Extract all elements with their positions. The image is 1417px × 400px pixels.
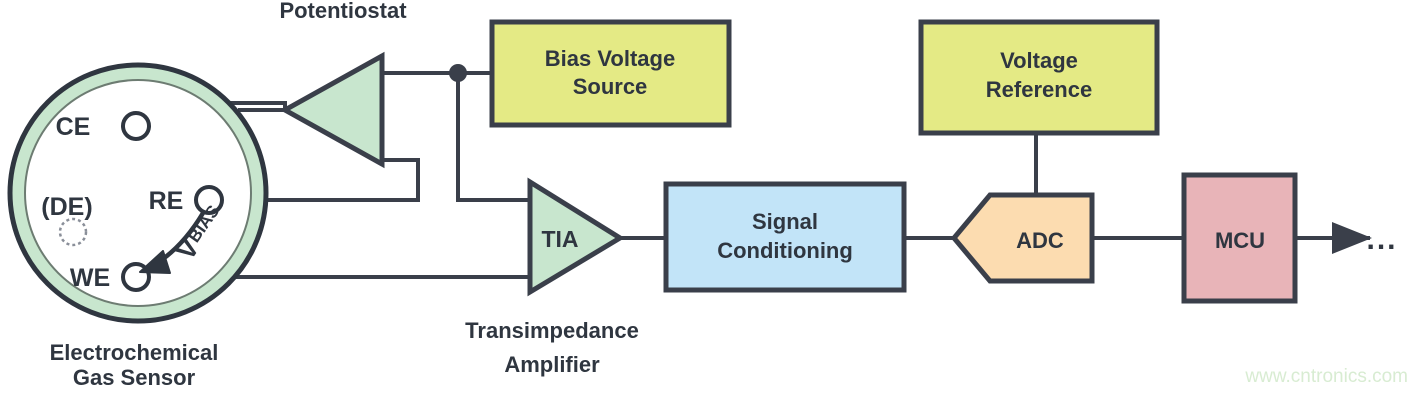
electrode-label-re: RE — [149, 187, 184, 215]
signal-conditioning-label-line1: Signal — [752, 209, 818, 234]
junction-dot — [449, 64, 467, 82]
voltage-reference-label-line1: Voltage — [1000, 48, 1078, 73]
tia-caption-line2: Amplifier — [504, 352, 600, 377]
voltage-reference-label-line2: Reference — [986, 77, 1092, 102]
sensor-caption-line2: Gas Sensor — [73, 365, 196, 390]
voltage-reference-block[interactable]: Voltage Reference — [921, 22, 1157, 133]
potentiostat-amplifier-triangle[interactable] — [285, 56, 382, 164]
watermark-text: www.cntronics.com — [1244, 366, 1408, 387]
bias-voltage-source-label-line2: Source — [573, 74, 648, 99]
tia-caption-line1: Transimpedance — [465, 318, 639, 343]
signal-conditioning-block[interactable]: Signal Conditioning — [666, 184, 904, 290]
adc-label: ADC — [1016, 228, 1064, 253]
diagram-svg: CE (DE) RE WE V BIAS Electrochemical Gas… — [0, 0, 1417, 400]
potentiostat-caption: Potentiostat — [279, 0, 407, 23]
wire-potentiostat-feedback — [380, 160, 418, 200]
electrode-ce-terminal[interactable] — [123, 113, 149, 139]
bias-voltage-source-block[interactable]: Bias Voltage Source — [492, 22, 729, 125]
block-diagram-canvas: CE (DE) RE WE V BIAS Electrochemical Gas… — [0, 0, 1417, 400]
signal-conditioning-box[interactable] — [666, 184, 904, 290]
electrode-de-terminal — [60, 219, 86, 245]
adc-block[interactable]: ADC — [954, 195, 1092, 281]
tia-inner-label: TIA — [541, 226, 578, 252]
electrode-label-ce: CE — [56, 113, 91, 141]
potentiostat-block[interactable]: Potentiostat — [279, 0, 407, 164]
bias-voltage-source-label-line1: Bias Voltage — [545, 46, 675, 71]
mcu-block[interactable]: MCU — [1184, 175, 1295, 301]
electrochemical-gas-sensor[interactable]: CE (DE) RE WE V BIAS Electrochemical Gas… — [10, 65, 266, 390]
transimpedance-amplifier-block[interactable]: TIA Transimpedance Amplifier — [465, 182, 639, 377]
sensor-caption-line1: Electrochemical — [50, 340, 219, 365]
electrode-label-we: WE — [70, 264, 110, 292]
electrode-label-de: (DE) — [41, 193, 92, 221]
signal-conditioning-label-line2: Conditioning — [717, 238, 853, 263]
continuation-ellipsis: ... — [1366, 223, 1397, 256]
mcu-label: MCU — [1215, 228, 1265, 253]
